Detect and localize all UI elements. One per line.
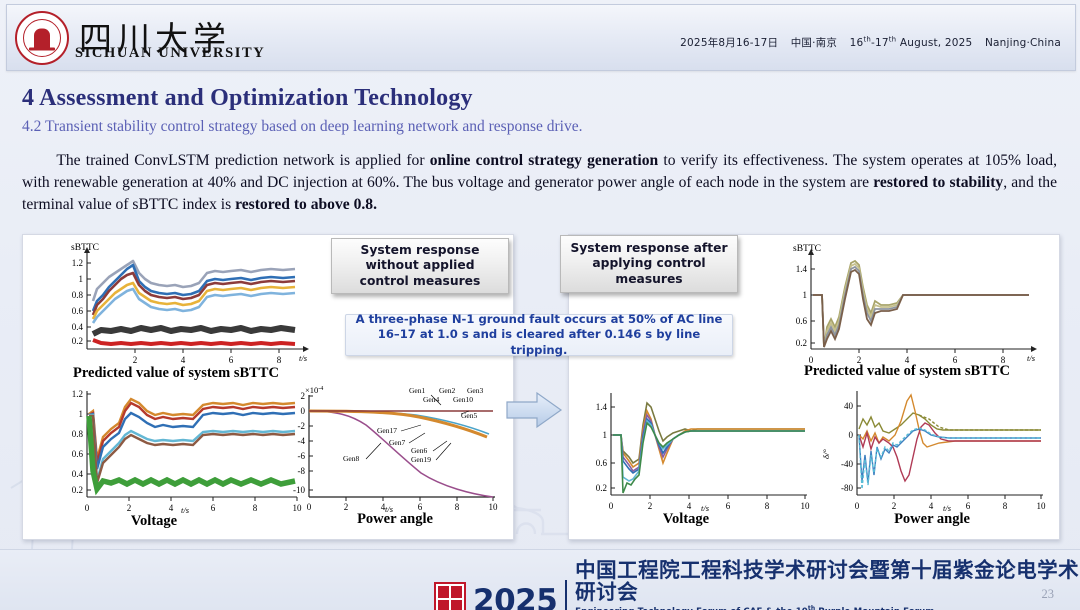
svg-text:4: 4 [687, 501, 692, 511]
svg-text:0.2: 0.2 [796, 338, 807, 348]
svg-text:10: 10 [1037, 501, 1047, 511]
svg-text:-80: -80 [841, 483, 853, 493]
chart-voltage-controlled: 1.410.60.2 024 6810 [571, 385, 821, 535]
svg-text:0.2: 0.2 [72, 485, 83, 495]
forum-title-en: Engineering Technology Forum of CAE & th… [575, 605, 1080, 610]
svg-text:0: 0 [301, 406, 306, 416]
svg-text:0.6: 0.6 [72, 306, 84, 316]
svg-text:8: 8 [765, 501, 770, 511]
chart-sbttc-uncontrolled: sBTTC 1.210.8 0.60.40.2 24 [31, 239, 321, 384]
svg-text:0.6: 0.6 [796, 316, 808, 326]
svg-text:-10: -10 [293, 485, 305, 495]
chart-sbttc-controlled: sBTTC 1.410.60.2 024 68 [769, 239, 1049, 384]
svg-text:Gen2: Gen2 [439, 386, 455, 395]
svg-text:0.8: 0.8 [72, 429, 84, 439]
svg-text:1.2: 1.2 [72, 258, 83, 268]
conference-place-cn: 中国·南京 [791, 37, 837, 49]
svg-text:2: 2 [301, 391, 306, 401]
svg-text:-4: -4 [298, 436, 306, 446]
svg-text:4: 4 [929, 501, 934, 511]
callout-uncontrolled: System response without applied control … [331, 238, 509, 294]
figure-area: sBTTC 1.210.8 0.60.40.2 24 [0, 230, 1080, 540]
svg-text:0.2: 0.2 [596, 483, 607, 493]
page-number: 23 [1042, 587, 1055, 602]
sichuan-university-seal-icon [15, 11, 69, 65]
svg-text:1.2: 1.2 [72, 389, 83, 399]
svg-text:Gen19: Gen19 [411, 455, 431, 464]
svg-text:6: 6 [726, 501, 731, 511]
svg-text:1: 1 [603, 430, 608, 440]
svg-text:1: 1 [803, 290, 808, 300]
chart-voltage-uncontrolled: 1.210.8 0.60.40.2 024 6810 [31, 385, 313, 535]
svg-text:0: 0 [849, 430, 854, 440]
svg-text:6: 6 [211, 503, 216, 513]
slide-header: 四川大学 SICHUAN UNIVERSITY 2025年8月16-17日 中国… [6, 4, 1076, 71]
svg-text:-8: -8 [298, 466, 306, 476]
svg-text:6: 6 [229, 355, 234, 365]
university-name-en: SICHUAN UNIVERSITY [75, 45, 265, 62]
forum-logo: 2025 中国工程院工程科技学术研讨会暨第十届紫金论电学术研讨会 Enginee… [434, 560, 1080, 610]
svg-text:2: 2 [648, 501, 653, 511]
svg-text:Gen3: Gen3 [467, 386, 483, 395]
conference-date-cn: 2025年8月16-17日 [680, 37, 778, 49]
page-subtitle: 4.2 Transient stability control strategy… [22, 118, 582, 136]
chart-title-power-angle-controlled: Power angle [813, 511, 1051, 528]
svg-text:0.4: 0.4 [72, 322, 84, 332]
svg-text:t/s: t/s [299, 353, 308, 363]
svg-text:-40: -40 [841, 459, 853, 469]
callout-controlled: System response after applying control m… [560, 235, 738, 293]
svg-text:1.4: 1.4 [796, 264, 808, 274]
forum-year: 2025 [473, 587, 557, 610]
chart-title-sbttc-uncontrolled: Predicted value of system sBTTC [31, 365, 321, 382]
page-title: 4 Assessment and Optimization Technology [22, 85, 473, 112]
body-paragraph: The trained ConvLSTM prediction network … [22, 150, 1057, 216]
svg-text:10: 10 [801, 501, 811, 511]
svg-text:sBTTC: sBTTC [793, 244, 821, 254]
svg-text:2: 2 [127, 503, 132, 513]
conference-place-en: Nanjing·China [985, 37, 1061, 49]
chart-title-sbttc-controlled: Predicted value of system sBTTC [767, 363, 1047, 380]
svg-text:0.8: 0.8 [72, 290, 84, 300]
svg-text:0: 0 [85, 503, 90, 513]
svg-text:2: 2 [133, 355, 138, 365]
svg-text:6: 6 [966, 501, 971, 511]
svg-text:Gen5: Gen5 [461, 411, 477, 420]
conference-meta: 2025年8月16-17日 中国·南京 16th-17th August, 20… [671, 35, 1061, 50]
svg-text:Gen10: Gen10 [453, 395, 473, 404]
chart-power-angle-uncontrolled: ×10-4 20-2 -4-6-8-10 024 [281, 381, 509, 536]
svg-text:Gen1: Gen1 [409, 386, 425, 395]
svg-text:Gen8: Gen8 [343, 454, 359, 463]
fault-description-note: A three-phase N-1 ground fault occurs at… [345, 314, 733, 356]
svg-text:0.6: 0.6 [72, 449, 84, 459]
svg-text:Gen4: Gen4 [423, 395, 439, 404]
svg-text:4: 4 [181, 355, 186, 365]
svg-text:4: 4 [169, 503, 174, 513]
svg-text:0: 0 [609, 501, 614, 511]
svg-text:2: 2 [892, 501, 897, 511]
chart-title-voltage-controlled: Voltage [561, 511, 811, 528]
chart-title-power-angle-uncontrolled: Power angle [281, 511, 509, 528]
svg-text:0.2: 0.2 [72, 336, 83, 346]
svg-text:0.4: 0.4 [72, 469, 84, 479]
svg-text:8: 8 [253, 503, 258, 513]
slide: 四川大学 SICHUAN UNIVERSITY 2025年8月16-17日 中国… [0, 0, 1080, 610]
svg-text:×10-4: ×10-4 [305, 385, 323, 395]
svg-text:8: 8 [277, 355, 282, 365]
chart-title-voltage-uncontrolled: Voltage [13, 513, 295, 530]
footer-divider [565, 580, 567, 610]
svg-text:8: 8 [1003, 501, 1008, 511]
svg-text:t/s: t/s [1027, 353, 1036, 363]
svg-text:-2: -2 [298, 421, 306, 431]
svg-text:1: 1 [79, 409, 84, 419]
right-arrow-icon [505, 390, 563, 430]
svg-text:Gen7: Gen7 [389, 438, 405, 447]
svg-text:1: 1 [79, 274, 84, 284]
svg-text:-6: -6 [298, 451, 306, 461]
forum-title-cn: 中国工程院工程科技学术研讨会暨第十届紫金论电学术研讨会 [575, 560, 1080, 603]
svg-text:0: 0 [855, 501, 860, 511]
conference-date-en: 16th-17th August, 2025 [850, 37, 973, 49]
svg-text:Gen17: Gen17 [377, 426, 397, 435]
svg-text:δ/°: δ/° [821, 449, 831, 459]
svg-text:40: 40 [844, 401, 854, 411]
svg-text:Gen6: Gen6 [411, 446, 427, 455]
svg-text:1.4: 1.4 [596, 402, 608, 412]
svg-text:0.6: 0.6 [596, 458, 608, 468]
slide-footer: 2025 中国工程院工程科技学术研讨会暨第十届紫金论电学术研讨会 Enginee… [0, 549, 1080, 610]
forum-seal-icon [434, 582, 466, 610]
chart-power-angle-controlled: 400-40-80 024 6810 [819, 385, 1057, 535]
